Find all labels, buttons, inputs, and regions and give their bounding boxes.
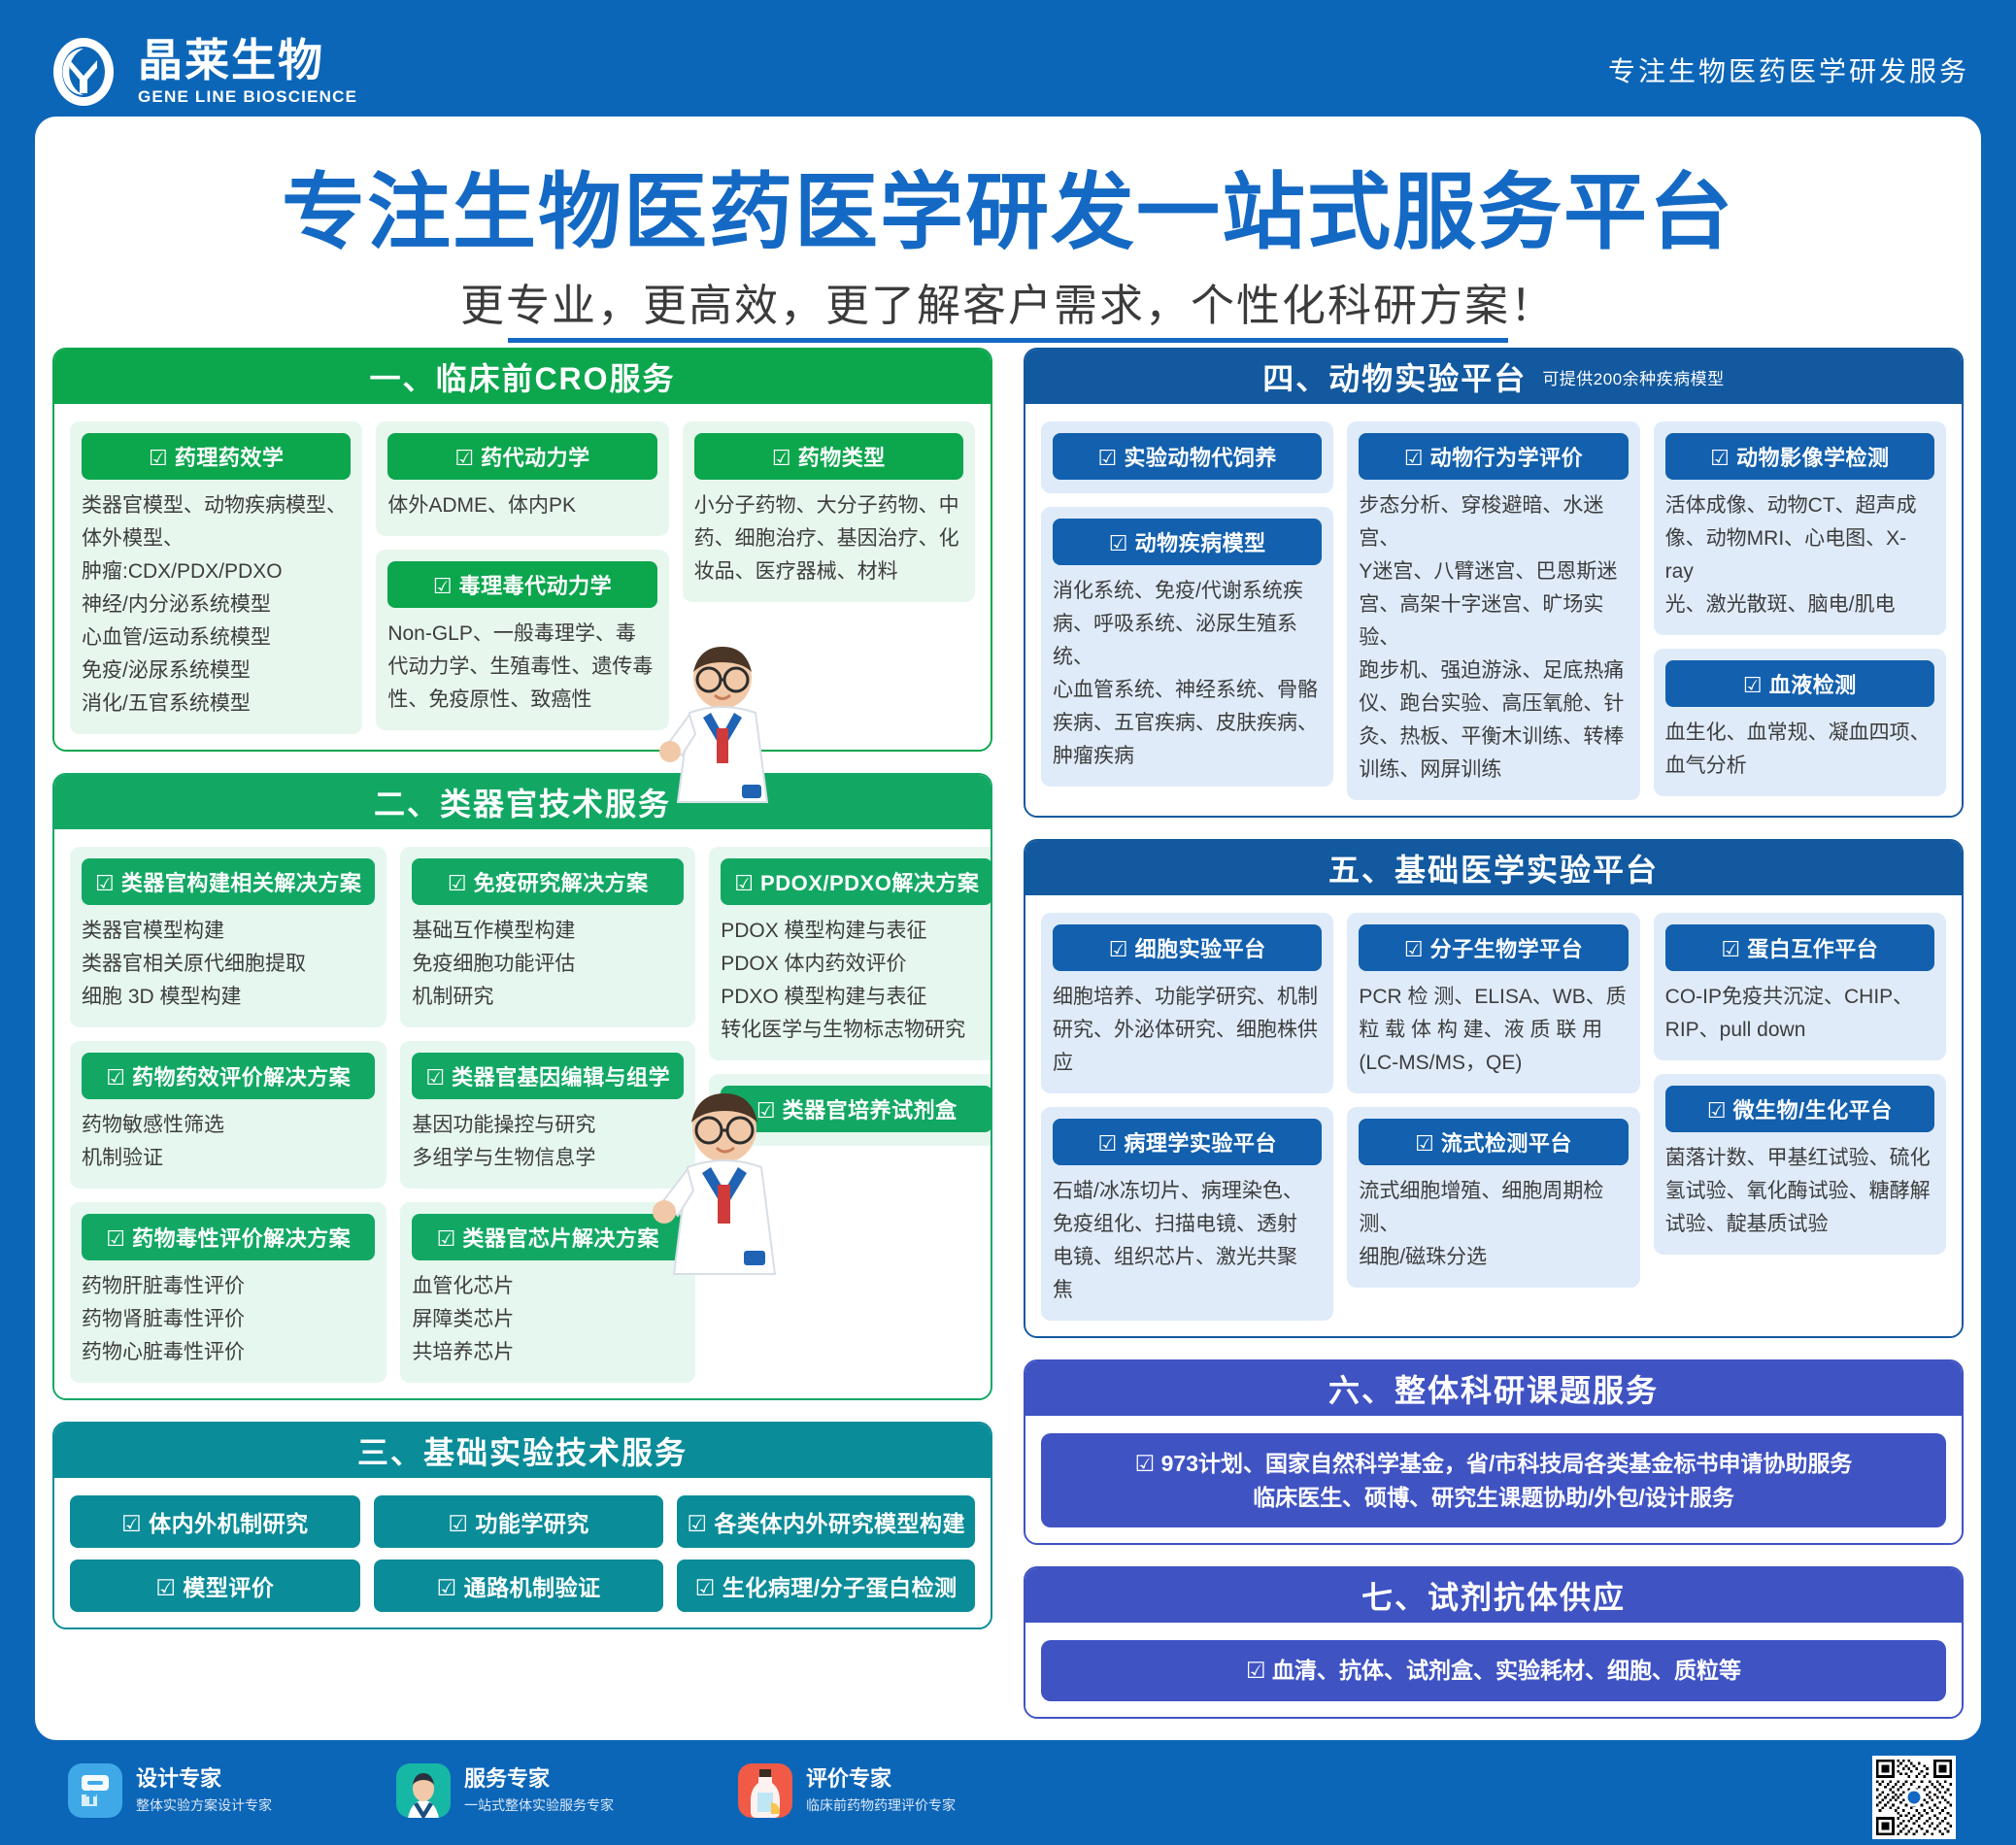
card-immune-research-pill[interactable]: ☑ 免疫研究解决方案 bbox=[412, 858, 684, 905]
card-pathology-platform: ☑ 病理学实验平台 石蜡/冰冻切片、病理染色、 免疫组化、扫描电镜、透射 电镜、… bbox=[1041, 1107, 1333, 1321]
item: 活体成像、动物CT、超声成 bbox=[1665, 489, 1934, 522]
expert-service-title: 服务专家 bbox=[464, 1766, 614, 1791]
s4-col-1: ☑ 实验动物代饲养 ☑ 动物疾病模型 消化系统、免疫/代谢系统疾 病、呼吸系统、… bbox=[1041, 421, 1333, 787]
item: Y迷宫、八臂迷宫、巴恩斯迷 bbox=[1359, 555, 1628, 588]
section-5-title: 五、基础医学实验平台 bbox=[1328, 846, 1659, 890]
card-efficacy-eval-pill[interactable]: ☑ 药物药效评价解决方案 bbox=[82, 1053, 375, 1099]
card-microbiology-platform-pill[interactable]: ☑ 微生物/生化平台 bbox=[1665, 1086, 1934, 1132]
item: 像、动物MRI、心电图、X-ray bbox=[1665, 522, 1934, 588]
s3-pill-2[interactable]: ☑ 功能学研究 bbox=[374, 1495, 664, 1548]
card-animal-imaging: ☑ 动物影像学检测 活体成像、动物CT、超声成 像、动物MRI、心电图、X-ra… bbox=[1654, 421, 1946, 635]
evaluation-bottle-icon bbox=[738, 1763, 792, 1818]
item: 电镜、组织芯片、激光共聚 bbox=[1053, 1241, 1322, 1274]
section-4-note: 可提供200余种疾病模型 bbox=[1542, 365, 1724, 389]
card-animal-boarding: ☑ 实验动物代饲养 bbox=[1041, 421, 1333, 493]
item: 血气分析 bbox=[1665, 750, 1934, 783]
item: PDOX 体内药效评价 bbox=[721, 948, 992, 981]
card-pharmacokinetics-pill[interactable]: ☑ 药代动力学 bbox=[387, 433, 656, 480]
item: 焦 bbox=[1053, 1274, 1322, 1307]
s5-col-2: ☑ 分子生物学平台 PCR 检 测、ELISA、WB、质 粒 载 体 构 建、液… bbox=[1347, 913, 1639, 1288]
card-blood-test: ☑ 血液检测 血生化、血常规、凝血四项、 血气分析 bbox=[1654, 649, 1946, 796]
section-research-project-service: 六、整体科研课题服务 ☑ 973计划、国家自然科学基金，省/市科技局各类基金标书… bbox=[1024, 1359, 1964, 1545]
section-reagent-antibody-supply: 七、试剂抗体供应 ☑ 血清、抗体、试剂盒、实验耗材、细胞、质粒等 bbox=[1024, 1566, 1964, 1719]
section-basic-medical-platform: 五、基础医学实验平台 ☑ 细胞实验平台 细胞培养、功能学研究、机制 研究、外泌体… bbox=[1024, 839, 1964, 1338]
card-toxicity-eval-pill[interactable]: ☑ 药物毒性评价解决方案 bbox=[82, 1214, 375, 1260]
item: 细胞 3D 模型构建 bbox=[82, 981, 375, 1014]
s4-col-2: ☑ 动物行为学评价 步态分析、穿梭避暗、水迷宫、 Y迷宫、八臂迷宫、巴恩斯迷 宫… bbox=[1347, 421, 1639, 800]
section-3-header: 三、基础实验技术服务 bbox=[54, 1424, 991, 1478]
item: 体外模型、 bbox=[82, 522, 351, 555]
card-cell-platform: ☑ 细胞实验平台 细胞培养、功能学研究、机制 研究、外泌体研究、细胞株供 应 bbox=[1041, 913, 1333, 1093]
item: 应 bbox=[1053, 1047, 1322, 1080]
card-drug-types: ☑ 药物类型 小分子药物、大分子药物、中 药、细胞治疗、基因治疗、化 妆品、医疗… bbox=[683, 421, 975, 602]
item: 流式细胞增殖、细胞周期检测、 bbox=[1359, 1175, 1628, 1241]
card-molecular-platform-pill[interactable]: ☑ 分子生物学平台 bbox=[1359, 924, 1628, 971]
section-animal-platform: 四、动物实验平台 可提供200余种疾病模型 ☑ 实验动物代饲养 ☑ 动物疾病模型 bbox=[1024, 348, 1964, 818]
card-pathology-platform-pill[interactable]: ☑ 病理学实验平台 bbox=[1053, 1119, 1322, 1165]
expert-evaluation-title: 评价专家 bbox=[806, 1766, 956, 1791]
card-toxicology: ☑ 毒理毒代动力学 Non-GLP、一般毒理学、毒 代动力学、生殖毒性、遗传毒 … bbox=[376, 550, 668, 730]
item: 血管化芯片 bbox=[412, 1270, 684, 1303]
section-4-body: ☑ 实验动物代饲养 ☑ 动物疾病模型 消化系统、免疫/代谢系统疾 病、呼吸系统、… bbox=[1025, 404, 1962, 816]
card-gene-editing-pill[interactable]: ☑ 类器官基因编辑与组学 bbox=[412, 1053, 684, 1099]
logo-chinese-name: 晶莱生物 bbox=[138, 37, 357, 84]
section-2-header: 二、类器官技术服务 bbox=[54, 775, 991, 829]
right-column: 四、动物实验平台 可提供200余种疾病模型 ☑ 实验动物代饲养 ☑ 动物疾病模型 bbox=[1024, 348, 1964, 1740]
item: 菌落计数、甲基红试验、硫化 bbox=[1665, 1142, 1934, 1175]
item: 药物肝脏毒性评价 bbox=[82, 1270, 375, 1303]
expert-design: 设计专家 整体实验方案设计专家 bbox=[68, 1763, 272, 1818]
title-divider bbox=[508, 338, 1508, 343]
card-pharmacology-items: 类器官模型、动物疾病模型、 体外模型、 肿瘤:CDX/PDX/PDXO 神经/内… bbox=[82, 489, 351, 721]
item: 妆品、医疗器械、材料 bbox=[694, 555, 963, 588]
card-pdox-pdxo: ☑ PDOX/PDXO解决方案 PDOX 模型构建与表征 PDOX 体内药效评价… bbox=[709, 847, 992, 1060]
item: 肿瘤疾病 bbox=[1053, 740, 1322, 773]
card-flow-cytometry-platform-pill[interactable]: ☑ 流式检测平台 bbox=[1359, 1119, 1628, 1165]
item: 药、细胞治疗、基因治疗、化 bbox=[694, 522, 963, 555]
qr-code[interactable] bbox=[1872, 1756, 1956, 1839]
card-drug-types-items: 小分子药物、大分子药物、中 药、细胞治疗、基因治疗、化 妆品、医疗器械、材料 bbox=[694, 489, 963, 588]
s3-pill-1[interactable]: ☑ 体内外机制研究 bbox=[70, 1495, 360, 1548]
s3-pill-5[interactable]: ☑ 通路机制验证 bbox=[374, 1560, 664, 1612]
s1-col-1: ☑ 药理药效学 类器官模型、动物疾病模型、 体外模型、 肿瘤:CDX/PDX/P… bbox=[70, 421, 362, 734]
card-animal-disease-model: ☑ 动物疾病模型 消化系统、免疫/代谢系统疾 病、呼吸系统、泌尿生殖系统、 心血… bbox=[1041, 507, 1333, 787]
page-title: 专注生物医药医学研发一站式服务平台 bbox=[35, 144, 1981, 265]
item: 小分子药物、大分子药物、中 bbox=[694, 489, 963, 522]
item: 训练、网屏训练 bbox=[1359, 754, 1628, 787]
card-organ-chip: ☑ 类器官芯片解决方案 血管化芯片 屏障类芯片 共培养芯片 bbox=[400, 1202, 695, 1383]
s1-col-2: ☑ 药代动力学 体外ADME、体内PK ☑ 毒理毒代动力学 Non-GLP、一般… bbox=[376, 421, 668, 730]
section-6-title: 六、整体科研课题服务 bbox=[1328, 1366, 1659, 1411]
item: 免疫组化、扫描电镜、透射 bbox=[1053, 1208, 1322, 1241]
card-toxicology-items: Non-GLP、一般毒理学、毒 代动力学、生殖毒性、遗传毒 性、免疫原性、致癌性 bbox=[387, 618, 656, 717]
item: 灸、热板、平衡木训练、转棒 bbox=[1359, 721, 1628, 754]
left-column: 一、临床前CRO服务 ☑ 药理药效学 类器官模型、动物疾病模型、 体外模型、 肿… bbox=[52, 348, 992, 1651]
item: 转化医学与生物标志物研究 bbox=[721, 1014, 992, 1047]
card-blood-test-pill[interactable]: ☑ 血液检测 bbox=[1665, 660, 1934, 707]
card-pharmacology-pill[interactable]: ☑ 药理药效学 bbox=[82, 433, 351, 480]
page-subtitle: 更专业，更高效，更了解客户需求，个性化科研方案！ bbox=[35, 270, 1981, 333]
item: 类器官模型、动物疾病模型、 bbox=[82, 489, 351, 522]
brand-logo: 晶莱生物 GENE LINE BIOSCIENCE bbox=[47, 35, 357, 109]
item: 机制研究 bbox=[412, 981, 684, 1014]
card-animal-disease-model-pill[interactable]: ☑ 动物疾病模型 bbox=[1053, 519, 1322, 565]
section-preclinical-cro: 一、临床前CRO服务 ☑ 药理药效学 类器官模型、动物疾病模型、 体外模型、 肿… bbox=[52, 348, 992, 752]
item: 免疫细胞功能评估 bbox=[412, 948, 684, 981]
item: CO-IP免疫共沉淀、CHIP、 bbox=[1665, 981, 1934, 1014]
item: 心血管系统、神经系统、骨骼 bbox=[1053, 674, 1322, 707]
item: 神经/内分泌系统模型 bbox=[82, 588, 351, 621]
card-toxicology-pill[interactable]: ☑ 毒理毒代动力学 bbox=[387, 561, 656, 608]
item: PDXO 模型构建与表征 bbox=[721, 981, 992, 1014]
card-protein-interaction-platform: ☑ 蛋白互作平台 CO-IP免疫共沉淀、CHIP、 RIP、pull down bbox=[1654, 913, 1946, 1060]
item: 机制验证 bbox=[82, 1142, 375, 1175]
section-basic-experiment-tech: 三、基础实验技术服务 ☑ 体内外机制研究 ☑ 功能学研究 ☑ 各类体内外研究模型… bbox=[52, 1422, 992, 1629]
s2-col-1: ☑ 类器官构建相关解决方案 类器官模型构建 类器官相关原代细胞提取 细胞 3D … bbox=[70, 847, 386, 1383]
section-5-header: 五、基础医学实验平台 bbox=[1025, 841, 1962, 895]
card-cell-platform-pill[interactable]: ☑ 细胞实验平台 bbox=[1053, 924, 1322, 971]
section-1-body: ☑ 药理药效学 类器官模型、动物疾病模型、 体外模型、 肿瘤:CDX/PDX/P… bbox=[54, 404, 991, 750]
card-animal-behavior-pill[interactable]: ☑ 动物行为学评价 bbox=[1359, 433, 1628, 480]
item: 氢试验、氧化酶试验、糖酵解 bbox=[1665, 1175, 1934, 1208]
item: 血生化、血常规、凝血四项、 bbox=[1665, 717, 1934, 750]
poster-root: 晶莱生物 GENE LINE BIOSCIENCE 专注生物医药医学研发服务 专… bbox=[0, 0, 2016, 1845]
expert-design-title: 设计专家 bbox=[136, 1766, 272, 1791]
item: 类器官相关原代细胞提取 bbox=[82, 948, 375, 981]
design-icon bbox=[68, 1763, 122, 1818]
s5-col-3: ☑ 蛋白互作平台 CO-IP免疫共沉淀、CHIP、 RIP、pull down … bbox=[1654, 913, 1946, 1255]
card-organoid-kit: ☑ 类器官培养试剂盒 bbox=[709, 1074, 992, 1146]
card-drug-types-pill[interactable]: ☑ 药物类型 bbox=[694, 433, 963, 480]
item: 药物肾脏毒性评价 bbox=[82, 1303, 375, 1336]
section-6-header: 六、整体科研课题服务 bbox=[1025, 1361, 1962, 1416]
section-2-body: ☑ 类器官构建相关解决方案 类器官模型构建 类器官相关原代细胞提取 细胞 3D … bbox=[54, 829, 991, 1398]
item: 消化/五官系统模型 bbox=[82, 688, 351, 721]
expert-list: 设计专家 整体实验方案设计专家 服务专家 一站式整体实验服务专家 bbox=[68, 1763, 956, 1818]
item: 药物敏感性筛选 bbox=[82, 1109, 375, 1142]
section-6-banner[interactable]: ☑ 973计划、国家自然科学基金，省/市科技局各类基金标书申请协助服务 临床医生… bbox=[1041, 1433, 1946, 1527]
s2-col-3: ☑ PDOX/PDXO解决方案 PDOX 模型构建与表征 PDOX 体内药效评价… bbox=[709, 847, 992, 1146]
logo-english-name: GENE LINE BIOSCIENCE bbox=[138, 87, 357, 107]
card-animal-boarding-pill[interactable]: ☑ 实验动物代饲养 bbox=[1053, 433, 1322, 480]
item: Non-GLP、一般毒理学、毒 bbox=[387, 618, 656, 651]
item: 试验、靛基质试验 bbox=[1665, 1208, 1934, 1241]
section-4-header: 四、动物实验平台 可提供200余种疾病模型 bbox=[1025, 350, 1962, 404]
s6-line-1: ☑ 973计划、国家自然科学基金，省/市科技局各类基金标书申请协助服务 bbox=[1060, 1447, 1927, 1481]
item: 光、激光散斑、脑电/肌电 bbox=[1665, 588, 1934, 621]
section-3-body: ☑ 体内外机制研究 ☑ 功能学研究 ☑ 各类体内外研究模型构建 ☑ 模型评价 ☑… bbox=[54, 1478, 991, 1627]
card-pharmacology: ☑ 药理药效学 类器官模型、动物疾病模型、 体外模型、 肿瘤:CDX/PDX/P… bbox=[70, 421, 362, 734]
item: 基因功能操控与研究 bbox=[412, 1109, 684, 1142]
expert-evaluation: 评价专家 临床前药物药理评价专家 bbox=[738, 1763, 956, 1818]
item: 体外ADME、体内PK bbox=[387, 489, 656, 522]
card-animal-imaging-pill[interactable]: ☑ 动物影像学检测 bbox=[1665, 433, 1934, 480]
item: 免疫/泌尿系统模型 bbox=[82, 654, 351, 688]
section-7-banner[interactable]: ☑ 血清、抗体、试剂盒、实验耗材、细胞、质粒等 bbox=[1041, 1640, 1946, 1701]
card-molecular-platform: ☑ 分子生物学平台 PCR 检 测、ELISA、WB、质 粒 载 体 构 建、液… bbox=[1347, 913, 1639, 1093]
item: 病、呼吸系统、泌尿生殖系统、 bbox=[1053, 608, 1322, 674]
item: 药物心脏毒性评价 bbox=[82, 1336, 375, 1369]
card-gene-editing: ☑ 类器官基因编辑与组学 基因功能操控与研究 多组学与生物信息学 bbox=[400, 1041, 695, 1189]
item: 细胞培养、功能学研究、机制 bbox=[1053, 981, 1322, 1014]
item: 代动力学、生殖毒性、遗传毒 bbox=[387, 651, 656, 684]
logo-mark-icon bbox=[47, 35, 120, 109]
section-1-header: 一、临床前CRO服务 bbox=[54, 350, 991, 404]
service-person-icon bbox=[396, 1763, 451, 1818]
card-pdox-pdxo-pill[interactable]: ☑ PDOX/PDXO解决方案 bbox=[721, 858, 992, 905]
s7-line-1: ☑ 血清、抗体、试剂盒、实验耗材、细胞、质粒等 bbox=[1060, 1654, 1927, 1688]
item: 性、免疫原性、致癌性 bbox=[387, 684, 656, 717]
card-animal-behavior: ☑ 动物行为学评价 步态分析、穿梭避暗、水迷宫、 Y迷宫、八臂迷宫、巴恩斯迷 宫… bbox=[1347, 421, 1639, 800]
section-3-title: 三、基础实验技术服务 bbox=[357, 1428, 688, 1473]
item: 共培养芯片 bbox=[412, 1336, 684, 1369]
s3-pill-4[interactable]: ☑ 模型评价 bbox=[70, 1560, 360, 1612]
item: RIP、pull down bbox=[1665, 1014, 1934, 1047]
expert-evaluation-desc: 临床前药物药理评价专家 bbox=[806, 1795, 956, 1815]
footer-bar: 设计专家 整体实验方案设计专家 服务专家 一站式整体实验服务专家 bbox=[0, 1748, 2016, 1845]
expert-service-desc: 一站式整体实验服务专家 bbox=[464, 1795, 614, 1815]
item: 细胞/磁珠分选 bbox=[1359, 1241, 1628, 1274]
s2-col-2: ☑ 免疫研究解决方案 基础互作模型构建 免疫细胞功能评估 机制研究 ☑ 类器官基… bbox=[400, 847, 695, 1383]
section-1-title: 一、临床前CRO服务 bbox=[369, 354, 675, 399]
header-slogan: 专注生物医药医学研发服务 bbox=[1608, 50, 1969, 89]
item: (LC-MS/MS，QE) bbox=[1359, 1047, 1628, 1080]
card-pharmacokinetics: ☑ 药代动力学 体外ADME、体内PK bbox=[376, 421, 668, 536]
s3-pill-3[interactable]: ☑ 各类体内外研究模型构建 bbox=[677, 1495, 975, 1548]
item: PDOX 模型构建与表征 bbox=[721, 915, 992, 948]
item: 消化系统、免疫/代谢系统疾 bbox=[1053, 575, 1322, 608]
section-7-header: 七、试剂抗体供应 bbox=[1025, 1568, 1962, 1623]
expert-design-desc: 整体实验方案设计专家 bbox=[136, 1795, 272, 1815]
item: 基础互作模型构建 bbox=[412, 915, 684, 948]
item: 肿瘤:CDX/PDX/PDXO bbox=[82, 555, 351, 588]
section-4-title: 四、动物实验平台 bbox=[1262, 354, 1527, 399]
card-organoid-construction: ☑ 类器官构建相关解决方案 类器官模型构建 类器官相关原代细胞提取 细胞 3D … bbox=[70, 847, 386, 1027]
card-flow-cytometry-platform: ☑ 流式检测平台 流式细胞增殖、细胞周期检测、 细胞/磁珠分选 bbox=[1347, 1107, 1639, 1288]
s1-col-3: ☑ 药物类型 小分子药物、大分子药物、中 药、细胞治疗、基因治疗、化 妆品、医疗… bbox=[683, 421, 975, 602]
item: PCR 检 测、ELISA、WB、质 bbox=[1359, 981, 1628, 1014]
item: 石蜡/冰冻切片、病理染色、 bbox=[1053, 1175, 1322, 1208]
item: 心血管/运动系统模型 bbox=[82, 621, 351, 654]
card-organoid-kit-pill[interactable]: ☑ 类器官培养试剂盒 bbox=[721, 1086, 992, 1132]
card-toxicity-eval: ☑ 药物毒性评价解决方案 药物肝脏毒性评价 药物肾脏毒性评价 药物心脏毒性评价 bbox=[70, 1202, 386, 1383]
s3-pill-6[interactable]: ☑ 生化病理/分子蛋白检测 bbox=[677, 1560, 975, 1612]
s4-col-3: ☑ 动物影像学检测 活体成像、动物CT、超声成 像、动物MRI、心电图、X-ra… bbox=[1654, 421, 1946, 796]
card-immune-research: ☑ 免疫研究解决方案 基础互作模型构建 免疫细胞功能评估 机制研究 bbox=[400, 847, 695, 1027]
card-pharmacokinetics-items: 体外ADME、体内PK bbox=[387, 489, 656, 522]
s5-col-1: ☑ 细胞实验平台 细胞培养、功能学研究、机制 研究、外泌体研究、细胞株供 应 ☑… bbox=[1041, 913, 1333, 1321]
card-microbiology-platform: ☑ 微生物/生化平台 菌落计数、甲基红试验、硫化 氢试验、氧化酶试验、糖酵解 试… bbox=[1654, 1074, 1946, 1255]
item: 研究、外泌体研究、细胞株供 bbox=[1053, 1014, 1322, 1047]
item: 类器官模型构建 bbox=[82, 915, 375, 948]
expert-service: 服务专家 一站式整体实验服务专家 bbox=[396, 1763, 614, 1818]
item: 步态分析、穿梭避暗、水迷宫、 bbox=[1359, 489, 1628, 555]
item: 跑步机、强迫游泳、足底热痛 bbox=[1359, 654, 1628, 688]
item: 仪、跑台实验、高压氧舱、针 bbox=[1359, 688, 1628, 721]
item: 粒 载 体 构 建、液 质 联 用 bbox=[1359, 1014, 1628, 1047]
card-protein-interaction-platform-pill[interactable]: ☑ 蛋白互作平台 bbox=[1665, 924, 1934, 971]
s6-line-2: 临床医生、硕博、研究生课题协助/外包/设计服务 bbox=[1060, 1481, 1927, 1515]
main-white-board: 专注生物医药医学研发一站式服务平台 更专业，更高效，更了解客户需求，个性化科研方… bbox=[35, 117, 1981, 1740]
item: 多组学与生物信息学 bbox=[412, 1142, 684, 1175]
item: 屏障类芯片 bbox=[412, 1303, 684, 1336]
section-7-body: ☑ 血清、抗体、试剂盒、实验耗材、细胞、质粒等 bbox=[1025, 1623, 1962, 1717]
card-organoid-construction-pill[interactable]: ☑ 类器官构建相关解决方案 bbox=[82, 858, 375, 905]
item: 疾病、五官疾病、皮肤疾病、 bbox=[1053, 707, 1322, 740]
section-6-body: ☑ 973计划、国家自然科学基金，省/市科技局各类基金标书申请协助服务 临床医生… bbox=[1025, 1416, 1962, 1543]
card-efficacy-eval: ☑ 药物药效评价解决方案 药物敏感性筛选 机制验证 bbox=[70, 1041, 386, 1189]
card-organ-chip-pill[interactable]: ☑ 类器官芯片解决方案 bbox=[412, 1214, 684, 1260]
section-7-title: 七、试剂抗体供应 bbox=[1361, 1573, 1626, 1618]
item: 宫、高架十字迷宫、旷场实验、 bbox=[1359, 588, 1628, 654]
section-organoid-tech: 二、类器官技术服务 ☑ 类器官构建相关解决方案 类器官模型构建 类器官相关原代细… bbox=[52, 773, 992, 1400]
section-5-body: ☑ 细胞实验平台 细胞培养、功能学研究、机制 研究、外泌体研究、细胞株供 应 ☑… bbox=[1025, 895, 1962, 1336]
section-2-title: 二、类器官技术服务 bbox=[374, 780, 671, 824]
